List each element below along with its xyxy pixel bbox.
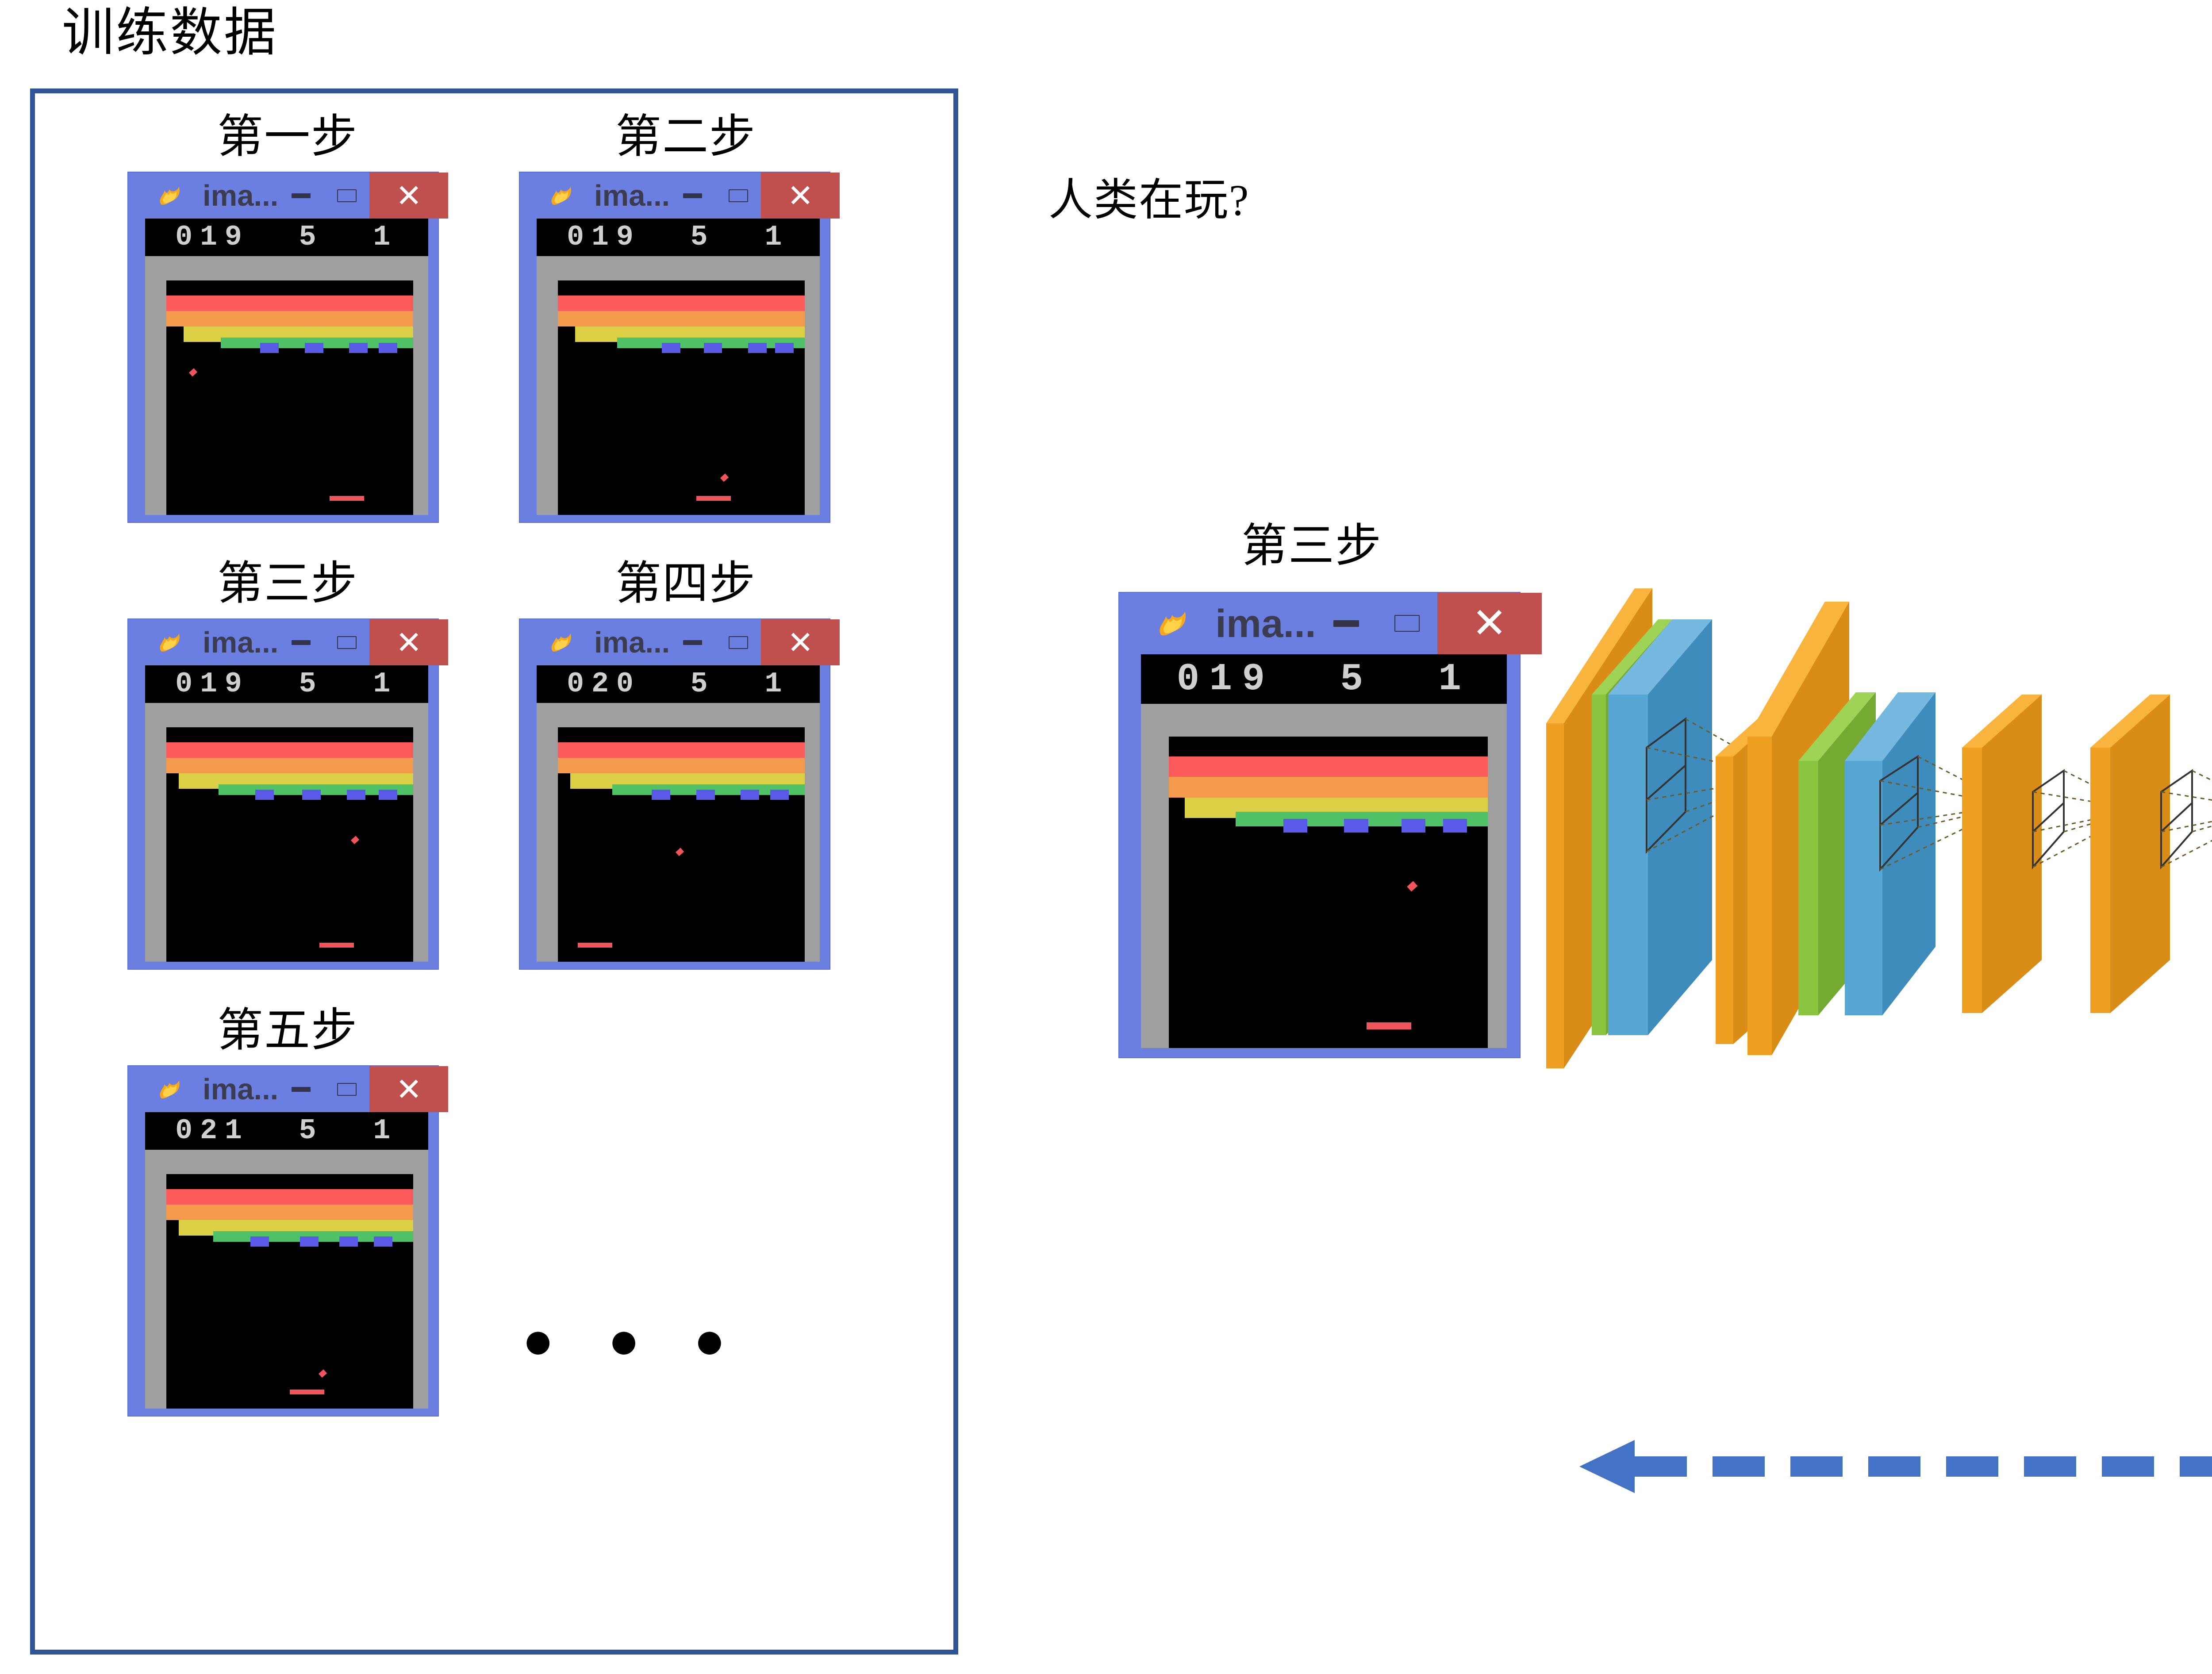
score-bar: 020 5 1 [537, 665, 820, 703]
ball [319, 1370, 327, 1378]
window-title: ima... [203, 628, 278, 657]
paddle [578, 943, 612, 948]
ball [351, 836, 359, 844]
playfield-border [537, 256, 820, 515]
brick-row-red [166, 1189, 413, 1205]
brick-row-red [558, 742, 805, 758]
brick-blue [255, 790, 274, 800]
brick-blue [1443, 819, 1467, 833]
playfield [166, 280, 413, 515]
game-screen: 020 5 1 [537, 665, 820, 962]
playfield [558, 727, 805, 962]
paddle [1367, 1022, 1411, 1029]
backprop-arrow [1579, 1438, 2212, 1495]
brick-blue [775, 343, 794, 353]
minimize-button[interactable] [278, 173, 324, 219]
paddle [290, 1390, 324, 1395]
page-title: 训练数据 [62, 4, 278, 62]
brick-row-red [1169, 756, 1488, 777]
ball [189, 368, 197, 376]
playfield-border [145, 256, 428, 515]
playfield [558, 280, 805, 515]
playfield [166, 727, 413, 962]
step-label-4: 第四步 [531, 560, 841, 608]
brick-blue [300, 1236, 319, 1247]
brick-blue [349, 343, 368, 353]
center-step-label: 第三步 [1106, 522, 1517, 570]
maximize-button[interactable] [324, 619, 369, 665]
step-label-3: 第三步 [133, 560, 442, 608]
brick-blue [748, 343, 767, 353]
brick-blue [704, 343, 722, 353]
minimize-button[interactable] [278, 1066, 324, 1112]
brick-blue [339, 1236, 358, 1247]
window-title: ima... [594, 628, 670, 657]
score-bar: 019 5 1 [1141, 654, 1507, 704]
game-screen: 019 5 1 [1141, 654, 1507, 1048]
brick-row-orange [166, 311, 413, 326]
game-screen: 019 5 1 [537, 219, 820, 515]
brick-row-orange [558, 311, 805, 326]
window-controls[interactable]: ✕ [278, 173, 448, 219]
cnn-architecture-diagram: .fo{fill:#f0a020}.fot{fill:#f8b43c}.fos{… [1540, 544, 2212, 1093]
window-controls[interactable]: ✕ [1316, 593, 1542, 654]
score-bar: 019 5 1 [145, 665, 428, 703]
score-bar: 019 5 1 [145, 219, 428, 256]
ellipsis-more-steps: ● ● ● [522, 1309, 745, 1371]
human-play-question: 人类在玩? [1048, 164, 1249, 228]
brick-blue [1344, 819, 1368, 833]
minimize-button[interactable] [670, 619, 715, 665]
score-value: 019 5 1 [567, 223, 789, 252]
maximize-button[interactable] [324, 1066, 369, 1112]
score-value: 019 5 1 [1177, 660, 1471, 698]
playfield-border [145, 703, 428, 962]
game-screen: 019 5 1 [145, 219, 428, 515]
brick-blue [302, 790, 321, 800]
score-bar: 019 5 1 [537, 219, 820, 256]
playfield [166, 1174, 413, 1409]
score-value: 020 5 1 [567, 670, 789, 699]
brick-blue [374, 1236, 392, 1247]
close-button[interactable]: ✕ [369, 173, 448, 219]
window-title: ima... [203, 1075, 278, 1104]
playfield-border [1141, 704, 1507, 1048]
brick-blue [260, 343, 279, 353]
ball [676, 848, 684, 856]
minimize-button[interactable] [1316, 593, 1377, 654]
window-title: ima... [203, 181, 278, 211]
atari-breakout-window[interactable]: ima... ✕ 019 5 1 [520, 173, 829, 522]
maximize-button[interactable] [715, 173, 761, 219]
brick-blue [741, 790, 759, 800]
window-titlebar[interactable]: ima... ✕ [1119, 593, 1520, 654]
maximize-button[interactable] [715, 619, 761, 665]
app-flame-icon [541, 628, 582, 657]
atari-breakout-window[interactable]: ima... ✕ 020 5 1 [520, 619, 829, 969]
brick-row-orange [1169, 777, 1488, 797]
app-flame-icon [150, 181, 190, 210]
brick-blue [770, 790, 789, 800]
brick-row-orange [166, 1205, 413, 1220]
minimize-button[interactable] [670, 173, 715, 219]
close-button[interactable]: ✕ [761, 173, 840, 219]
app-flame-icon [150, 628, 190, 657]
app-flame-icon [1147, 604, 1199, 642]
brick-blue [1283, 819, 1307, 833]
window-titlebar[interactable]: ima... ✕ [128, 1066, 438, 1112]
score-value: 019 5 1 [175, 670, 398, 699]
window-controls[interactable]: ✕ [670, 173, 840, 219]
ball [720, 474, 729, 482]
close-button[interactable]: ✕ [1437, 593, 1542, 654]
step-label-1: 第一步 [133, 113, 442, 161]
brick-blue [652, 790, 670, 800]
atari-breakout-window-current[interactable]: ima... ✕ 019 5 1 [1119, 593, 1520, 1057]
maximize-button[interactable] [324, 173, 369, 219]
game-screen: 021 5 1 [145, 1112, 428, 1409]
window-controls[interactable]: ✕ [278, 619, 448, 665]
ball [1407, 881, 1417, 891]
window-titlebar[interactable]: ima... ✕ [128, 173, 438, 219]
window-titlebar[interactable]: ima... ✕ [128, 619, 438, 665]
window-titlebar[interactable]: ima... ✕ [520, 173, 829, 219]
close-button[interactable]: ✕ [369, 1066, 448, 1112]
playfield [1169, 737, 1488, 1048]
score-value: 021 5 1 [175, 1117, 398, 1145]
brick-blue [1402, 819, 1425, 833]
brick-blue [250, 1236, 269, 1247]
paddle [319, 943, 354, 948]
window-title: ima... [1215, 604, 1316, 643]
app-flame-icon [541, 181, 582, 210]
window-controls[interactable]: ✕ [670, 619, 840, 665]
atari-breakout-window[interactable]: ima... ✕ 021 5 1 [128, 1066, 438, 1416]
playfield-border [537, 703, 820, 962]
step-label-5: 第五步 [133, 1006, 442, 1055]
close-button[interactable]: ✕ [761, 619, 840, 665]
brick-blue [347, 790, 365, 800]
brick-blue [662, 343, 680, 353]
window-controls[interactable]: ✕ [278, 1066, 448, 1112]
playfield-border [145, 1150, 428, 1409]
game-screen: 019 5 1 [145, 665, 428, 962]
score-bar: 021 5 1 [145, 1112, 428, 1149]
brick-blue [379, 790, 397, 800]
paddle [696, 496, 731, 501]
brick-row-red [558, 296, 805, 311]
atari-breakout-window[interactable]: ima... ✕ 019 5 1 [128, 173, 438, 522]
brick-row-orange [166, 758, 413, 773]
close-button[interactable]: ✕ [369, 619, 448, 665]
brick-blue [305, 343, 323, 353]
minimize-button[interactable] [278, 619, 324, 665]
window-title: ima... [594, 181, 670, 211]
maximize-button[interactable] [1377, 593, 1437, 654]
atari-breakout-window[interactable]: ima... ✕ 019 5 1 [128, 619, 438, 969]
brick-row-orange [558, 758, 805, 773]
app-flame-icon [150, 1075, 190, 1104]
score-value: 019 5 1 [175, 223, 398, 252]
brick-blue [379, 343, 397, 353]
paddle [330, 496, 364, 501]
brick-row-red [166, 742, 413, 758]
step-label-2: 第二步 [531, 113, 841, 161]
window-titlebar[interactable]: ima... ✕ [520, 619, 829, 665]
brick-row-red [166, 296, 413, 311]
brick-blue [696, 790, 715, 800]
